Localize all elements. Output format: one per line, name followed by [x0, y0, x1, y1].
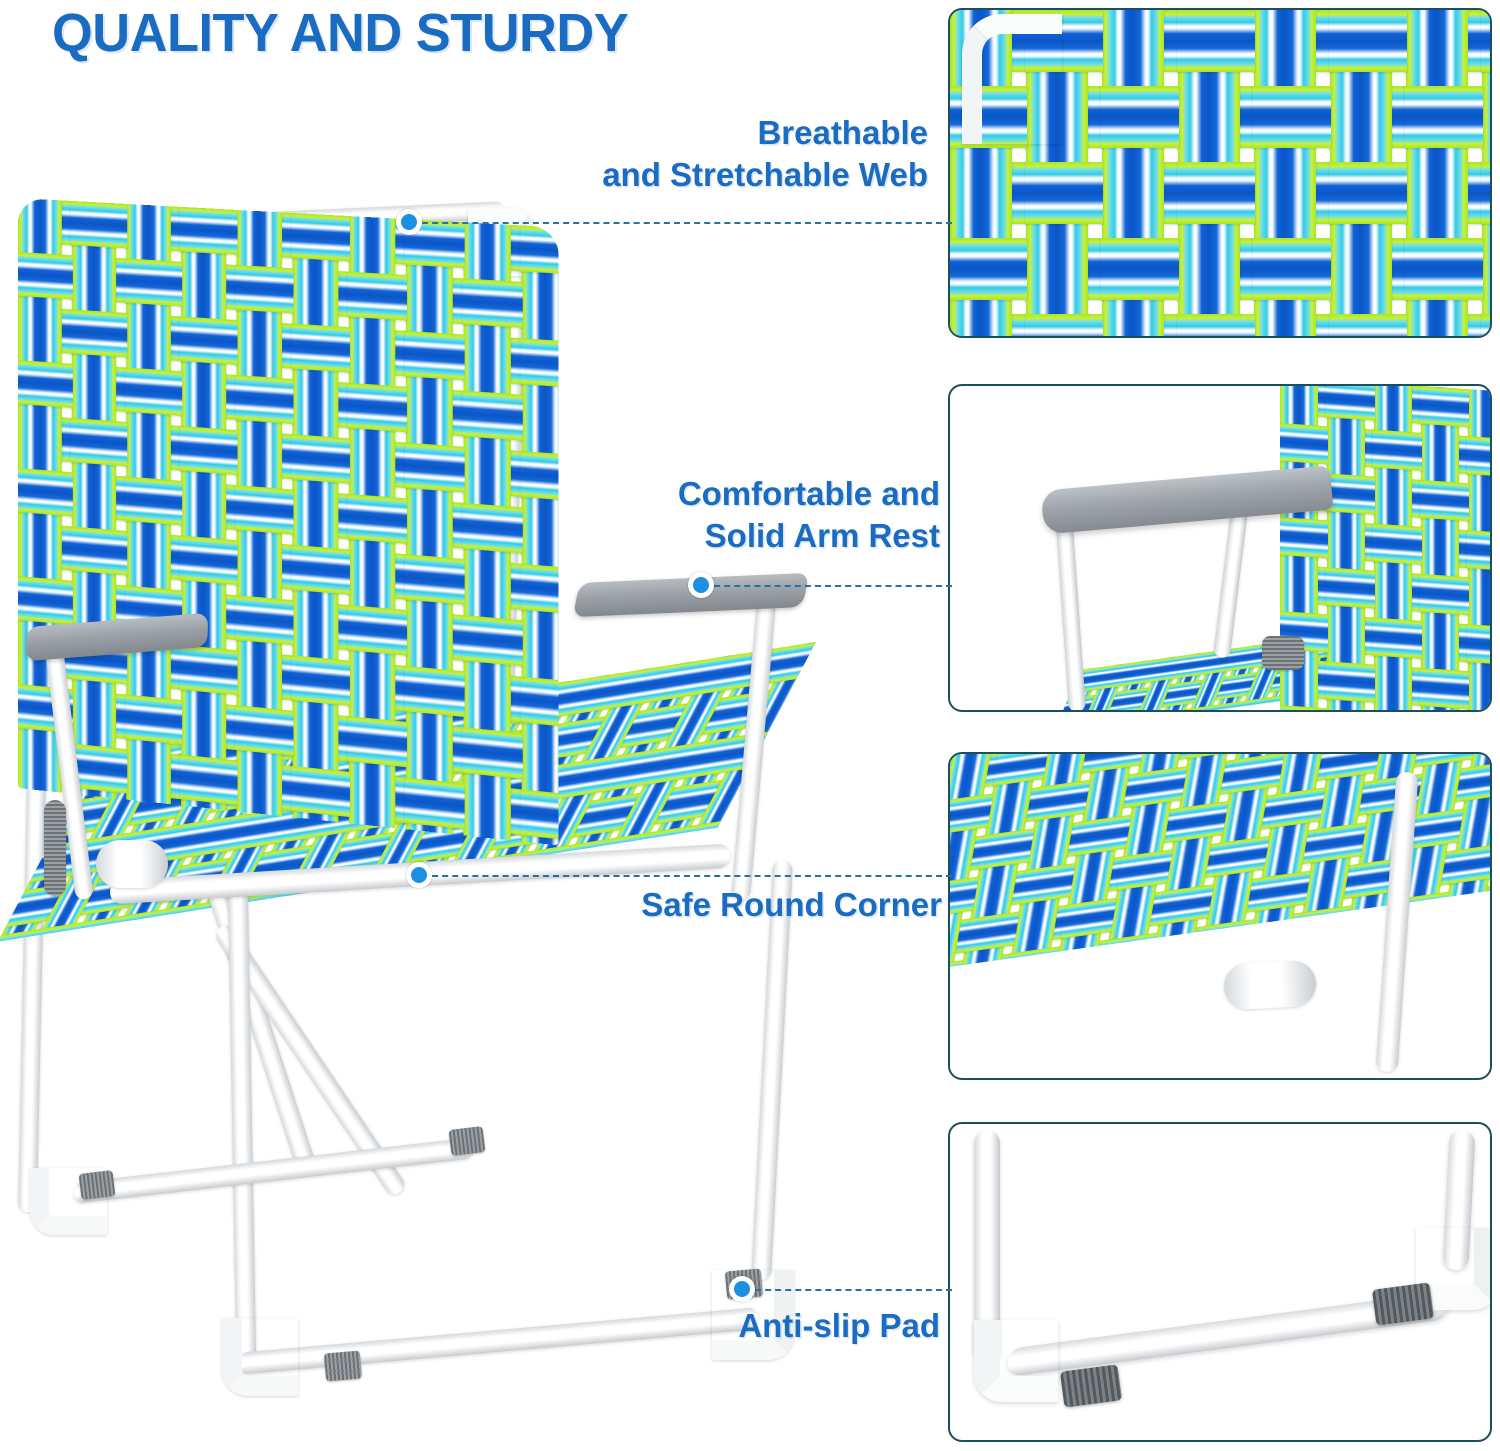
webbing-strap-horizontal — [180, 207, 237, 255]
webbing-strap-horizontal — [1131, 766, 1187, 807]
panel-arm-hinge — [1262, 636, 1304, 670]
webbing-strap-horizontal — [71, 309, 127, 357]
webbing-strap-vertical — [1482, 85, 1490, 163]
webbing-strap-vertical — [1336, 941, 1383, 979]
webbing-strap-horizontal — [1280, 517, 1328, 558]
webbing-strap-vertical — [18, 198, 62, 256]
webbing-strap-vertical — [464, 558, 511, 620]
webbing-strap-horizontal — [1143, 967, 1199, 978]
webbing-strap-horizontal — [1467, 436, 1490, 477]
webbing-strap-horizontal — [405, 777, 465, 829]
webbing-strap-vertical — [1482, 237, 1490, 315]
webbing-strap-horizontal — [1296, 905, 1352, 946]
callout-marker-breathable-web — [396, 209, 422, 235]
webbing-strap-vertical — [349, 326, 395, 387]
webbing-strap-horizontal — [1280, 423, 1328, 464]
callout-marker-arm-rest — [688, 572, 714, 598]
webbing-strap-horizontal — [291, 655, 350, 706]
webbing-strap-horizontal — [1481, 314, 1490, 336]
webbing-strap-horizontal — [348, 605, 407, 656]
webbing-strap-vertical — [1254, 313, 1316, 336]
webbing-strap-vertical — [1327, 613, 1365, 665]
webbing-strap-vertical — [1254, 10, 1316, 87]
webbing-strap-vertical — [292, 488, 338, 549]
webbing-strap-horizontal — [348, 383, 407, 433]
webbing-strap-horizontal — [1326, 386, 1375, 421]
chair-bottom-corner-front-left — [222, 1318, 298, 1396]
webbing-strap-horizontal — [1326, 661, 1375, 702]
webbing-strap-horizontal — [1463, 760, 1490, 801]
webbing-strap-horizontal — [521, 676, 559, 728]
callout-marker-round-corner — [406, 862, 432, 888]
connector-line-breathable-web — [412, 222, 952, 224]
chair-backrest-webbing — [18, 198, 559, 845]
webbing-strap-horizontal — [1280, 705, 1328, 710]
webbing-strap-horizontal — [1420, 668, 1469, 709]
webbing-strap-horizontal — [1172, 801, 1228, 842]
webbing-strap-horizontal — [1420, 574, 1469, 615]
webbing-strap-horizontal — [1449, 843, 1490, 884]
webbing-strap-vertical — [72, 471, 116, 531]
webbing-strap-horizontal — [1373, 524, 1422, 565]
webbing-strap-horizontal — [291, 545, 350, 595]
webbing-strap-vertical — [1421, 526, 1459, 578]
detail-panel-arm-rest — [948, 384, 1492, 712]
webbing-strap-horizontal — [125, 258, 182, 306]
webbing-strap-vertical — [1094, 975, 1141, 979]
webbing-strap-horizontal — [1329, 10, 1407, 72]
webbing-strap-vertical — [349, 437, 395, 498]
webbing-strap-horizontal — [978, 828, 1034, 869]
webbing-strap-horizontal — [950, 238, 1027, 300]
webbing-strap-horizontal — [1326, 473, 1375, 514]
connector-line-round-corner — [422, 875, 952, 877]
webbing-strap-horizontal — [1213, 836, 1269, 877]
webbing-strap-horizontal — [521, 564, 559, 615]
webbing-strap-vertical — [126, 312, 171, 372]
webbing-strap-horizontal — [1420, 386, 1469, 427]
webbing-strap-vertical — [464, 333, 511, 394]
webbing-strap-vertical — [1330, 85, 1392, 163]
webbing-strap-horizontal — [1157, 884, 1213, 925]
webbing-strap-horizontal — [405, 666, 465, 717]
panel-arm-front-leg — [1055, 512, 1086, 710]
webbing-strap-horizontal — [1094, 974, 1150, 979]
webbing-strap-vertical — [1254, 161, 1316, 239]
webbing-strap-vertical — [18, 521, 62, 581]
webbing-strap-vertical — [236, 759, 282, 821]
webbing-strap-horizontal — [348, 272, 407, 321]
chair-bottom-bar-front — [238, 1307, 758, 1374]
webbing-strap-vertical — [1468, 576, 1490, 628]
webbing-strap-horizontal — [405, 331, 465, 381]
webbing-strap-vertical — [181, 370, 226, 430]
chair-bottom-bar-rear — [74, 1137, 474, 1204]
webbing-strap-vertical — [1421, 432, 1459, 484]
webbing-strap-vertical — [292, 599, 338, 661]
webbing-strap-horizontal — [235, 595, 293, 645]
webbing-strap-horizontal — [235, 705, 293, 756]
webbing-strap-horizontal — [125, 476, 182, 525]
webbing-strap-horizontal — [291, 766, 350, 817]
webbing-strap-vertical — [236, 209, 282, 269]
callout-label-arm-rest: Comfortable and Solid Arm Rest — [678, 473, 940, 557]
anti-slip-pad-rear-right — [449, 1126, 486, 1156]
webbing-strap-horizontal — [71, 201, 127, 248]
webbing-strap-vertical — [522, 732, 559, 795]
webbing-strap-vertical — [18, 737, 62, 798]
webbing-strap-horizontal — [125, 367, 182, 416]
webbing-strap-vertical — [1374, 664, 1412, 710]
webbing-strap-horizontal — [235, 265, 293, 314]
webbing-strap-vertical — [126, 421, 171, 481]
panel-arm-rear-leg — [1213, 508, 1248, 659]
detail-panel-anti-slip-pad-art — [950, 1124, 1490, 1440]
webbing-strap-horizontal — [71, 526, 127, 575]
webbing-strap-horizontal — [1177, 162, 1255, 224]
webbing-strap-horizontal — [1482, 920, 1490, 961]
webbing-strap-vertical — [1468, 670, 1490, 710]
webbing-strap-vertical — [1142, 968, 1189, 979]
panel-pad-rubber-right — [1372, 1282, 1434, 1325]
webbing-strap-vertical — [349, 548, 395, 610]
webbing-strap-horizontal — [1060, 898, 1116, 939]
webbing-strap-horizontal — [291, 434, 350, 484]
webbing-strap-horizontal — [1434, 926, 1490, 967]
webbing-strap-horizontal — [180, 426, 237, 475]
webbing-strap-vertical — [181, 480, 226, 541]
webbing-strap-vertical — [292, 267, 338, 327]
chair-side-hinge-knob — [44, 800, 66, 896]
webbing-strap-vertical — [1406, 10, 1468, 87]
webbing-strap-horizontal — [348, 716, 407, 767]
webbing-strap-vertical — [181, 261, 226, 321]
webbing-strap-horizontal — [18, 360, 73, 408]
webbing-strap-vertical — [522, 281, 559, 343]
callout-marker-anti-slip-pad — [729, 1276, 755, 1302]
panel-arm-backrest-webbing — [1280, 386, 1490, 710]
webbing-strap-horizontal — [1255, 871, 1311, 912]
webbing-strap-horizontal — [235, 485, 293, 535]
webbing-strap-vertical — [1327, 519, 1365, 571]
webbing-strap-vertical — [126, 530, 171, 590]
detail-panel-anti-slip-pad — [948, 1122, 1492, 1442]
webbing-strap-horizontal — [1467, 624, 1490, 665]
callout-label-breathable-web: Breathable and Stretchable Web — [602, 112, 928, 196]
webbing-strap-vertical — [349, 660, 395, 722]
webbing-strap-horizontal — [235, 375, 293, 424]
webbing-strap-horizontal — [1373, 430, 1422, 471]
callout-label-anti-slip-pad: Anti-slip Pad — [738, 1305, 940, 1347]
webbing-strap-horizontal — [1199, 919, 1255, 960]
webbing-strap-horizontal — [1481, 162, 1490, 224]
webbing-strap-horizontal — [462, 727, 522, 779]
webbing-strap-horizontal — [521, 225, 559, 274]
webbing-strap-horizontal — [18, 576, 73, 625]
webbing-strap-vertical — [464, 782, 511, 845]
webbing-strap-horizontal — [1310, 822, 1366, 863]
webbing-strap-vertical — [522, 619, 559, 682]
webbing-strap-vertical — [522, 506, 559, 568]
webbing-strap-horizontal — [462, 615, 522, 666]
webbing-strap-vertical — [18, 413, 62, 472]
webbing-strap-horizontal — [1102, 933, 1158, 974]
webbing-strap-vertical — [292, 378, 338, 439]
webbing-strap-vertical — [1374, 386, 1412, 433]
webbing-strap-horizontal — [1228, 754, 1284, 794]
webbing-strap-horizontal — [1329, 314, 1407, 336]
webbing-strap-horizontal — [405, 442, 465, 492]
webbing-strap-horizontal — [18, 252, 73, 300]
webbing-strap-vertical — [1433, 927, 1480, 976]
webbing-strap-vertical — [1280, 386, 1318, 427]
webbing-strap-vertical — [406, 609, 453, 671]
webbing-strap-vertical — [950, 313, 1012, 336]
webbing-strap-vertical — [1482, 920, 1490, 969]
webbing-strap-horizontal — [1253, 238, 1331, 300]
detail-panel-round-corner — [948, 752, 1492, 1080]
webbing-strap-horizontal — [1101, 86, 1179, 148]
webbing-strap-vertical — [72, 254, 116, 313]
webbing-strap-vertical — [18, 305, 62, 364]
webbing-strap-vertical — [1102, 161, 1164, 239]
webbing-strap-horizontal — [1025, 162, 1103, 224]
webbing-strap-horizontal — [348, 494, 407, 544]
webbing-strap-horizontal — [1116, 849, 1172, 890]
webbing-strap-horizontal — [1253, 86, 1331, 148]
webbing-strap-horizontal — [291, 324, 350, 373]
webbing-strap-vertical — [1280, 563, 1318, 615]
webbing-strap-vertical — [349, 771, 395, 834]
webbing-strap-horizontal — [1269, 787, 1325, 828]
webbing-strap-vertical — [292, 710, 338, 772]
webbing-strap-vertical — [1468, 388, 1490, 440]
webbing-strap-horizontal — [405, 554, 465, 605]
anti-slip-pad-rear-left — [79, 1170, 116, 1200]
webbing-strap-horizontal — [1025, 314, 1103, 336]
webbing-strap-vertical — [349, 215, 395, 275]
webbing-strap-horizontal — [1034, 780, 1090, 821]
webbing-strap-horizontal — [180, 535, 237, 585]
product-main-image — [0, 0, 950, 1451]
panel-pad-corner-left — [974, 1320, 1058, 1402]
connector-line-arm-rest — [704, 585, 952, 587]
webbing-strap-vertical — [1406, 313, 1468, 336]
detail-panel-breathable-web — [948, 8, 1492, 338]
webbing-strap-horizontal — [1019, 863, 1075, 904]
webbing-strap-horizontal — [1405, 238, 1483, 300]
webbing-strap-vertical — [126, 203, 171, 262]
webbing-strap-vertical — [1406, 161, 1468, 239]
webbing-strap-vertical — [1374, 570, 1412, 622]
webbing-strap-horizontal — [125, 694, 182, 744]
panel-seat-rounded-corner — [1223, 960, 1317, 1011]
webbing-strap-vertical — [406, 721, 453, 784]
anti-slip-pad-front-left — [324, 1350, 362, 1381]
connector-line-anti-slip-pad — [745, 1289, 952, 1291]
webbing-strap-horizontal — [1177, 314, 1255, 336]
webbing-strap-horizontal — [521, 451, 559, 502]
webbing-strap-horizontal — [963, 911, 1019, 952]
webbing-strap-horizontal — [1407, 808, 1463, 849]
detail-panel-arm-rest-art — [950, 386, 1490, 710]
webbing-strap-vertical — [1178, 237, 1240, 315]
webbing-strap-vertical — [72, 363, 116, 423]
webbing-strap-vertical — [1102, 313, 1164, 336]
webbing-strap-vertical — [1327, 425, 1365, 477]
chair-front-leg-left — [228, 880, 256, 1360]
webbing-strap-horizontal — [462, 503, 522, 554]
webbing-strap-horizontal — [291, 213, 350, 261]
webbing-strap-horizontal — [1481, 10, 1490, 72]
panel-web-frame-corner — [962, 14, 1062, 144]
webbing-strap-horizontal — [180, 755, 237, 806]
webbing-strap-vertical — [406, 274, 453, 335]
webbing-strap-horizontal — [462, 278, 522, 328]
webbing-strap-vertical — [522, 394, 559, 456]
webbing-strap-horizontal — [1373, 618, 1422, 659]
webbing-strap-horizontal — [1177, 10, 1255, 72]
webbing-strap-vertical — [1330, 237, 1392, 315]
webbing-strap-vertical — [236, 539, 282, 600]
webbing-strap-vertical — [406, 386, 453, 447]
webbing-strap-horizontal — [180, 645, 237, 695]
webbing-strap-vertical — [126, 748, 171, 809]
webbing-strap-horizontal — [1420, 480, 1469, 521]
webbing-strap-horizontal — [18, 468, 73, 517]
webbing-strap-vertical — [464, 670, 511, 733]
webbing-strap-horizontal — [1101, 238, 1179, 300]
webbing-strap-horizontal — [521, 338, 559, 388]
webbing-strap-horizontal — [180, 316, 237, 365]
webbing-strap-horizontal — [1075, 815, 1131, 856]
webbing-strap-horizontal — [521, 789, 559, 841]
webbing-strap-horizontal — [1405, 86, 1483, 148]
webbing-strap-vertical — [236, 649, 282, 711]
webbing-strap-vertical — [464, 446, 511, 508]
webbing-strap-vertical — [236, 319, 282, 379]
detail-panel-round-corner-art — [950, 754, 1490, 1078]
webbing-strap-horizontal — [1329, 162, 1407, 224]
webbing-strap-vertical — [950, 161, 1012, 239]
webbing-strap-horizontal — [71, 418, 127, 467]
webbing-strap-horizontal — [1326, 567, 1375, 608]
detail-panel-breathable-web-art — [950, 10, 1490, 336]
webbing-strap-horizontal — [462, 391, 522, 441]
webbing-strap-vertical — [72, 688, 116, 749]
callout-label-round-corner: Safe Round Corner — [641, 884, 942, 926]
webbing-strap-vertical — [1026, 237, 1088, 315]
webbing-strap-vertical — [1421, 620, 1459, 672]
chair-seat-rounded-corner — [96, 840, 168, 888]
webbing-strap-vertical — [464, 221, 511, 282]
webbing-strap-vertical — [1374, 476, 1412, 528]
webbing-strap-vertical — [181, 699, 226, 760]
webbing-strap-horizontal — [950, 960, 964, 979]
webbing-strap-vertical — [406, 497, 453, 559]
webbing-strap-vertical — [236, 429, 282, 490]
webbing-strap-vertical — [1468, 482, 1490, 534]
webbing-strap-vertical — [1102, 10, 1164, 87]
panel-pad-rubber-left — [1060, 1364, 1122, 1407]
webbing-strap-vertical — [1178, 85, 1240, 163]
webbing-strap-horizontal — [1467, 530, 1490, 571]
